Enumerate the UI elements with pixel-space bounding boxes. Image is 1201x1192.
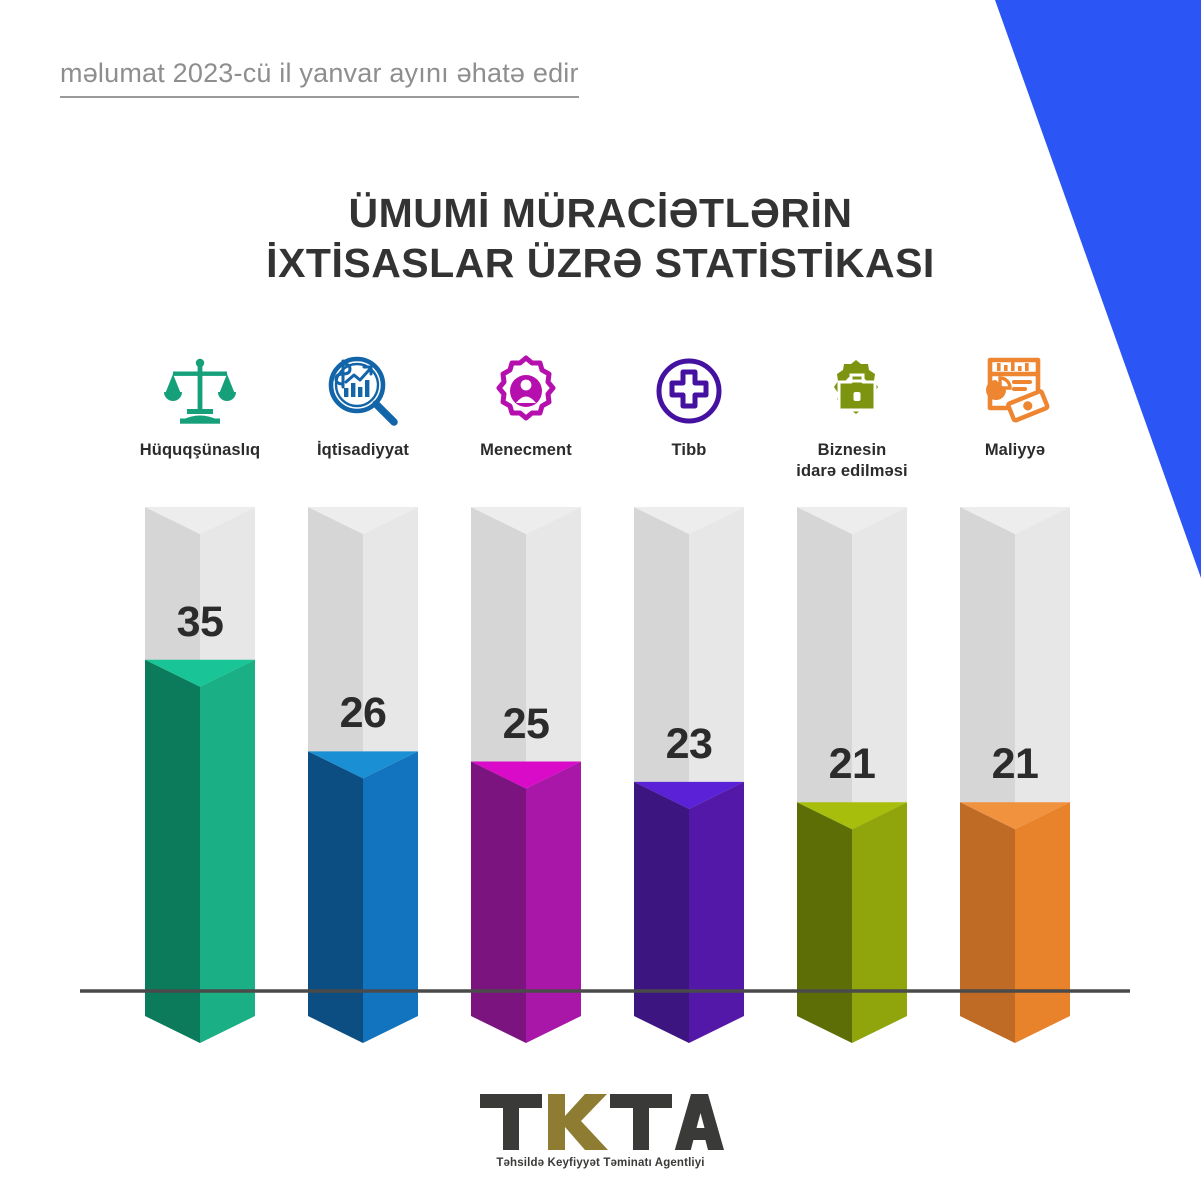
- bar-value-4: [634, 782, 744, 1043]
- bar-value-label-4: 23: [614, 720, 764, 769]
- bar-value-label-1: 35: [125, 598, 275, 647]
- bar-value-label-3: 25: [451, 700, 601, 749]
- bar-value-2: [308, 751, 418, 1043]
- tkta-logo: Təhsildə Keyfiyyət Təminatı Agentliyi: [0, 1092, 1201, 1169]
- bar-value-3: [471, 762, 581, 1044]
- bar-value-label-6: 21: [940, 740, 1090, 789]
- bar-value-5: [797, 802, 907, 1043]
- bar-value-1: [145, 660, 255, 1043]
- logo-tagline: Təhsildə Keyfiyyət Təminatı Agentliyi: [0, 1157, 1201, 1169]
- bar-value-label-5: 21: [777, 740, 927, 789]
- logo-letter-a: [674, 1094, 723, 1150]
- tkta-wordmark: [478, 1092, 724, 1150]
- bar-chart: [0, 0, 1201, 1192]
- logo-letter-k: [548, 1094, 608, 1150]
- bar-value-label-2: 26: [288, 689, 438, 738]
- infographic-canvas: məlumat 2023-cü il yanvar ayını əhatə ed…: [0, 0, 1201, 1192]
- bar-value-6: [960, 802, 1070, 1043]
- logo-letter-t2: [610, 1094, 672, 1150]
- logo-letter-t: [480, 1094, 542, 1150]
